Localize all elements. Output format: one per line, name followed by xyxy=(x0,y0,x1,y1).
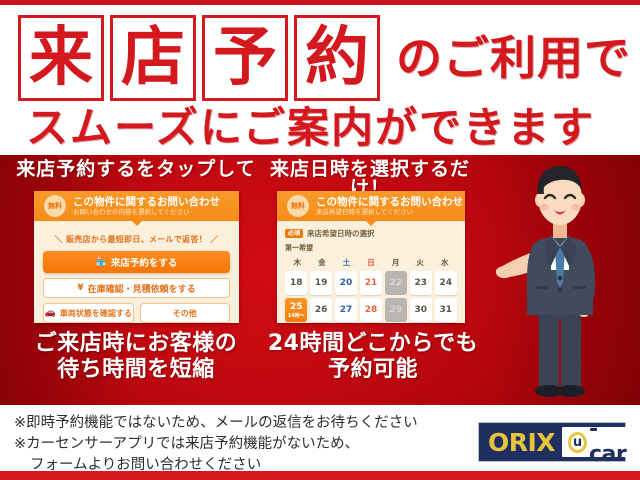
date-cell[interactable]: 30 xyxy=(410,298,432,322)
vehicle-condition-label: 車両状態を確認する xyxy=(60,308,132,319)
weekday-thu: 木 xyxy=(285,257,310,268)
date-cell[interactable]: 20 xyxy=(335,271,357,295)
vehicle-condition-button[interactable]: 🚗 車両状態を確認する xyxy=(43,303,134,323)
benefit-left-line1: ご来店時にお客様の xyxy=(8,331,264,357)
date-number: 28 xyxy=(365,305,378,315)
calendar-section-heading: 必須 来店希望日時の選択 xyxy=(285,228,457,239)
calendar-body: 必須 来店希望日時の選択 第一希望 木 金 土 日 月 火 水 18 19 20 xyxy=(277,221,465,322)
date-cell[interactable]: 24 xyxy=(435,271,457,295)
bottom-red-rule xyxy=(0,471,640,480)
footer-note-1: ※即時予約機能ではないため、メールの返信をお待ちください xyxy=(14,413,464,434)
headline-kanji-box-2: 店 xyxy=(110,15,196,101)
free-badge-label: 無料 xyxy=(48,203,62,210)
reserve-visit-button[interactable]: 🏪 来店予約をする xyxy=(43,251,230,273)
store-icon: 🏪 xyxy=(96,258,107,267)
contact-mock-header-text: この物件に関するお問い合わせ お問い合わせの内容を選択してください xyxy=(73,196,220,217)
date-number: 25 xyxy=(290,302,303,312)
logo-car-text: -car xyxy=(589,417,628,467)
contact-mock-title: この物件に関するお問い合わせ xyxy=(73,196,220,208)
logo-u-circle-icon: u xyxy=(568,432,587,453)
contact-button-list: 🏪 来店予約をする ¥ 在庫確認・見積依頼をする 🚗 車両状態を確認する その他 xyxy=(34,251,239,323)
footer-note-2: ※カーセンサーアプリでは来店予約機能がないため、 xyxy=(14,434,464,455)
date-cell[interactable]: 28 xyxy=(360,298,382,322)
weekday-sat: 土 xyxy=(334,257,359,268)
yen-icon: ¥ xyxy=(77,284,83,293)
free-badge: 無料 xyxy=(44,195,66,217)
weekday-wed: 水 xyxy=(432,257,457,268)
calendar-mockup: 無料 この物件に関するお問い合わせ 来店希望日時を選択してください 必須 来店希… xyxy=(277,191,465,323)
date-number: 31 xyxy=(439,305,452,315)
headline-line-2: スムーズにご案内ができます xyxy=(26,106,595,150)
date-cell[interactable]: 18 xyxy=(285,271,307,295)
date-number: 27 xyxy=(340,305,353,315)
headline-line-1: 来 店 予 約 のご利用で xyxy=(18,15,631,101)
advertisement-banner: 来 店 予 約 のご利用で スムーズにご案内ができます 来店予約するをタップして… xyxy=(0,0,640,480)
date-number: 29 xyxy=(390,305,403,315)
date-cell[interactable]: 27 xyxy=(335,298,357,322)
weekday-mon: 月 xyxy=(383,257,408,268)
contact-form-mockup: 無料 この物件に関するお問い合わせ お問い合わせの内容を選択してください ＼ 販… xyxy=(34,191,239,323)
band-caption-left: 来店予約するをタップして xyxy=(12,160,260,179)
businessman-illustration xyxy=(495,155,625,400)
free-badge: 無料 xyxy=(287,195,309,217)
date-number: 20 xyxy=(340,278,353,288)
free-badge-label: 無料 xyxy=(291,203,305,210)
date-cell[interactable]: 26 xyxy=(310,298,332,322)
contact-lead-note: ＼ 販売店から最短即日、メールで返答！ ／ xyxy=(34,234,239,245)
benefit-right-line2: 予約可能 xyxy=(262,357,484,383)
date-number: 24 xyxy=(439,278,452,288)
date-cell[interactable]: 31 xyxy=(435,298,457,322)
header-notch xyxy=(365,220,377,226)
headline-kanji-box-1: 来 xyxy=(18,15,104,101)
date-cell-disabled: 22 xyxy=(385,271,407,295)
headline-kanji-2: 店 xyxy=(121,26,185,90)
calendar-mock-header-text: この物件に関するお問い合わせ 来店希望日時を選択してください xyxy=(316,196,463,217)
logo-orix-text: ORIX xyxy=(488,428,555,457)
calendar-mock-header: 無料 この物件に関するお問い合わせ 来店希望日時を選択してください xyxy=(277,191,465,221)
date-cell[interactable]: 23 xyxy=(410,271,432,295)
other-label: その他 xyxy=(173,308,197,319)
contact-mock-header: 無料 この物件に関するお問い合わせ お問い合わせの内容を選択してください xyxy=(34,191,239,221)
orix-ucar-logo: ORIX u -car xyxy=(478,422,626,462)
date-time-sub: 14時～ xyxy=(288,313,305,319)
logo-ucar-block: u -car xyxy=(562,427,628,457)
car-icon: 🚗 xyxy=(45,309,56,318)
preference-label: 第一希望 xyxy=(285,243,457,253)
date-number: 22 xyxy=(390,278,403,288)
headline-section: 来 店 予 約 のご利用で スムーズにご案内ができます xyxy=(0,5,640,155)
headline-kanji-3: 予 xyxy=(213,26,277,90)
weekday-sun: 日 xyxy=(359,257,384,268)
benefit-right-line1: 24時間どこからでも xyxy=(262,331,484,357)
headline-kanji-4: 約 xyxy=(305,26,369,90)
weekday-tue: 火 xyxy=(408,257,433,268)
headline-kanji-box-4: 約 xyxy=(294,15,380,101)
date-number: 23 xyxy=(415,278,428,288)
calendar-mock-subtitle: 来店希望日時を選択してください xyxy=(316,208,463,217)
date-cell[interactable]: 19 xyxy=(310,271,332,295)
contact-button-pair: 🚗 車両状態を確認する その他 xyxy=(43,303,230,323)
date-cell[interactable]: 21 xyxy=(360,271,382,295)
date-cell-disabled: 29 xyxy=(385,298,407,322)
weekday-header-row: 木 金 土 日 月 火 水 xyxy=(285,257,457,268)
date-number: 18 xyxy=(290,278,303,288)
weekday-fri: 金 xyxy=(310,257,335,268)
red-feature-band: 来店予約するをタップして 来店日時を選択するだけ！ 無料 この物件に関するお問い… xyxy=(0,155,640,405)
required-badge: 必須 xyxy=(285,229,303,238)
reserve-visit-label: 来店予約をする xyxy=(111,255,178,269)
benefit-left-line2: 待ち時間を短縮 xyxy=(8,357,264,383)
date-number: 30 xyxy=(415,305,428,315)
headline-tail-text: のご利用で xyxy=(396,35,631,81)
contact-mock-subtitle: お問い合わせの内容を選択してください xyxy=(73,208,220,217)
benefit-tagline-right: 24時間どこからでも 予約可能 xyxy=(262,331,484,383)
date-number: 26 xyxy=(315,305,328,315)
logo-u-letter: u xyxy=(573,436,582,449)
stock-quote-button[interactable]: ¥ 在庫確認・見積依頼をする xyxy=(43,278,230,298)
date-number: 21 xyxy=(365,278,378,288)
headline-kanji-box-3: 予 xyxy=(202,15,288,101)
calendar-week-row-1: 18 19 20 21 22 23 24 xyxy=(285,271,457,295)
stock-quote-label: 在庫確認・見積依頼をする xyxy=(88,282,196,295)
other-button[interactable]: その他 xyxy=(140,303,231,323)
date-cell-selected[interactable]: 25 14時～ xyxy=(285,298,307,322)
footer-notes: ※即時予約機能ではないため、メールの返信をお待ちください ※カーセンサーアプリで… xyxy=(14,413,464,476)
calendar-section-label: 来店希望日時の選択 xyxy=(307,228,375,239)
footer-section: ※即時予約機能ではないため、メールの返信をお待ちください ※カーセンサーアプリで… xyxy=(0,405,640,480)
calendar-week-row-2: 25 14時～ 26 27 28 29 30 31 xyxy=(285,298,457,322)
header-notch xyxy=(131,220,143,226)
calendar-mock-title: この物件に関するお問い合わせ xyxy=(316,196,463,208)
headline-kanji-1: 来 xyxy=(29,26,93,90)
benefit-tagline-left: ご来店時にお客様の 待ち時間を短縮 xyxy=(8,331,264,383)
date-number: 19 xyxy=(315,278,328,288)
